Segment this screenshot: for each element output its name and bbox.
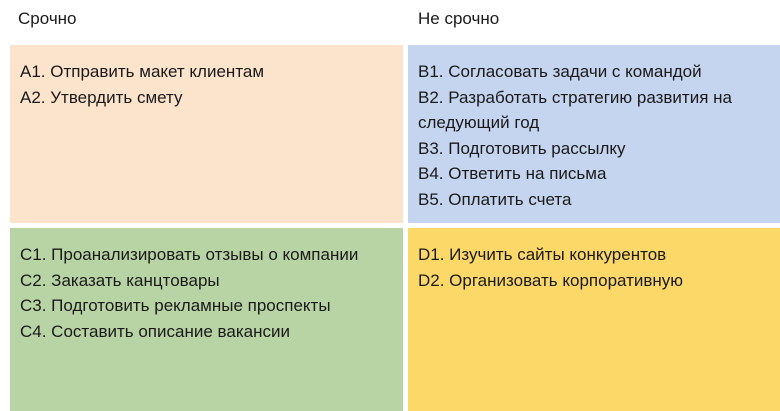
list-item: D2. Организовать корпоративную [418,268,772,294]
list-item: B3. Подготовить рассылку [418,136,772,162]
column-header-not-urgent: Не срочно [418,8,499,30]
task-list-c: C1. Проанализировать отзывы о компании C… [20,242,395,344]
list-item: A2. Утвердить смету [20,85,395,111]
list-item: D1. Изучить сайты конкурентов [418,242,772,268]
list-item: A1. Отправить макет клиентам [20,59,395,85]
task-list-d: D1. Изучить сайты конкурентов D2. Органи… [418,242,772,293]
list-item: C2. Заказать канцтовары [20,268,395,294]
quadrant-c-urgent-not-important: C1. Проанализировать отзывы о компании C… [10,228,403,411]
task-list-a: A1. Отправить макет клиентам A2. Утверди… [20,59,395,110]
list-item: C1. Проанализировать отзывы о компании [20,242,395,268]
list-item: B4. Ответить на письма [418,161,772,187]
column-header-urgent: Срочно [18,8,77,30]
task-list-b: B1. Согласовать задачи с командой B2. Ра… [418,59,772,212]
list-item: C3. Подготовить рекламные проспекты [20,293,395,319]
quadrant-a-urgent-important: A1. Отправить макет клиентам A2. Утверди… [10,45,403,223]
list-item: B1. Согласовать задачи с командой [418,59,772,85]
list-item: C4. Составить описание вакансии [20,319,395,345]
quadrant-d-not-urgent-not-important: D1. Изучить сайты конкурентов D2. Органи… [408,228,780,411]
eisenhower-matrix: Срочно Не срочно A1. Отправить макет кли… [0,0,780,411]
list-item: B2. Разработать стратегию развития на сл… [418,85,772,136]
list-item: B5. Оплатить счета [418,187,772,213]
quadrant-b-not-urgent-important: B1. Согласовать задачи с командой B2. Ра… [408,45,780,223]
